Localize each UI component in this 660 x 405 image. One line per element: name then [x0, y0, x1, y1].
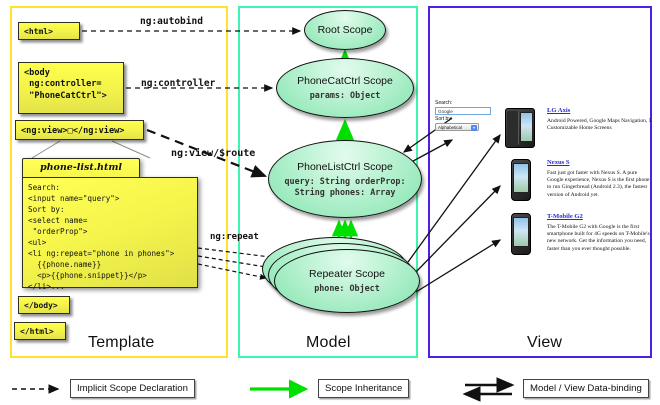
phone-text: T-Mobile G2 The T-Mobile G2 with Google … [547, 212, 652, 253]
column-label-template: Template [88, 334, 155, 352]
connector-label-controller: ng:controller [141, 78, 215, 89]
code-box-html-close: </html> [14, 322, 66, 340]
connector-label-ngview-route: ng:view/$route [171, 148, 255, 159]
note-tab: phone-list.html [22, 158, 140, 178]
connector-label-ngrepeat: ng:repeat [210, 232, 259, 242]
scope-repeater-props: phone: Object [314, 283, 380, 294]
phone-text: Nexus S Fast just got faster with Nexus … [547, 158, 652, 199]
legend: Implicit Scope Declaration Scope Inherit… [0, 376, 660, 404]
phone-description: Android Powered, Google Maps Navigation,… [547, 118, 652, 132]
code-box-body-open: <body ng:controller= "PhoneCatCtrl"> [18, 62, 124, 114]
note-title: phone-list.html [23, 159, 139, 177]
sort-select-value: Alphabetical [438, 125, 462, 130]
phone-image [505, 158, 535, 202]
phone-name-link[interactable]: LG Axis [547, 106, 652, 115]
sort-select[interactable]: Alphabetical ▾ [435, 123, 479, 131]
scope-phonecatctrl-name: PhoneCatCtrl Scope [297, 75, 393, 87]
search-label: Search: [435, 100, 497, 107]
scope-phonelistctrl-props: query: String orderProp: String phones: … [269, 176, 421, 198]
phone-description: The T-Mobile G2 with Google is the first… [547, 224, 652, 253]
code-box-ng-view: <ng:view>□</ng:view> [15, 120, 144, 140]
legend-label: Model / View Data-binding [523, 379, 649, 398]
phone-description: Fast just got faster with Nexus S. A pur… [547, 170, 652, 199]
legend-item: Scope Inheritance [318, 376, 409, 400]
chevron-down-icon: ▾ [471, 125, 477, 131]
legend-label: Implicit Scope Declaration [70, 379, 195, 398]
search-input[interactable]: Google [435, 107, 491, 115]
scope-root-name: Root Scope [318, 24, 373, 36]
phone-text: LG Axis Android Powered, Google Maps Nav… [547, 106, 652, 132]
diagram-canvas: <html> <body ng:controller= "PhoneCatCtr… [0, 0, 660, 405]
phone-name-link[interactable]: Nexus S [547, 158, 652, 167]
note-code: Search: <input name="query"> Sort by: <s… [22, 177, 198, 288]
column-label-model: Model [306, 334, 351, 352]
scope-repeater-name: Repeater Scope [309, 268, 385, 280]
scope-phonecatctrl-props: params: Object [310, 90, 381, 101]
phone-list-html-note: phone-list.html Search: <input name="que… [22, 158, 198, 288]
scope-phonelistctrl: PhoneListCtrl Scope query: String orderP… [268, 140, 422, 218]
view-search-form: Search: Google Sort by: Alphabetical ▾ [435, 100, 497, 131]
scope-root: Root Scope [304, 10, 386, 50]
legend-item: Implicit Scope Declaration [70, 376, 195, 400]
connector-label-autobind: ng:autobind [140, 16, 203, 27]
column-label-view: View [527, 334, 562, 352]
phone-name-link[interactable]: T-Mobile G2 [547, 212, 652, 221]
scope-phonelistctrl-name: PhoneListCtrl Scope [297, 161, 393, 173]
legend-label: Scope Inheritance [318, 379, 409, 398]
scope-repeater: Repeater Scope phone: Object [274, 249, 420, 313]
phone-image [505, 106, 535, 150]
code-box-html-open: <html> [18, 22, 80, 40]
phone-image [505, 212, 535, 256]
sort-label: Sort by: [435, 116, 497, 123]
scope-phonecatctrl: PhoneCatCtrl Scope params: Object [276, 58, 414, 118]
code-box-body-close: </body> [18, 296, 70, 314]
legend-item: Model / View Data-binding [523, 376, 649, 400]
